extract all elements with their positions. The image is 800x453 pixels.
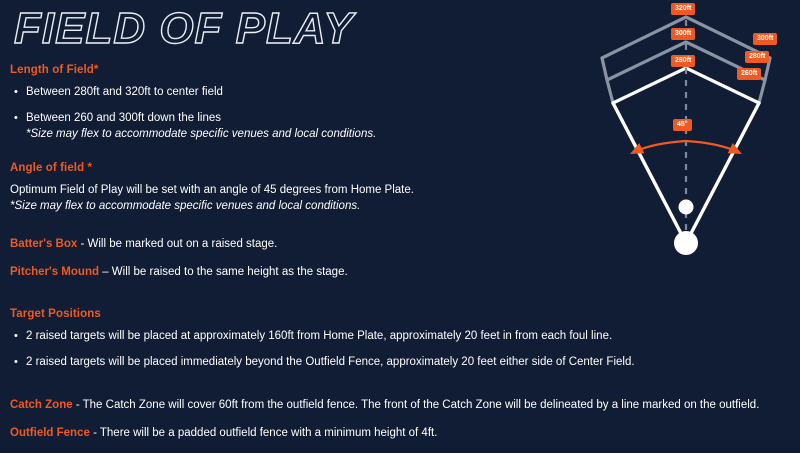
catch-zone-text: - The Catch Zone will cover 60ft from th…	[73, 399, 760, 411]
bullet-icon: •	[10, 329, 26, 344]
foul-line-right	[686, 103, 759, 243]
home-plate-marker	[674, 231, 698, 255]
field-of-play-slide: FIELD OF PLAY Length of Field* • Between…	[0, 0, 800, 441]
outfield-fence-label: Outfield Fence	[10, 427, 90, 439]
bullet-text: 2 raised targets will be placed immediat…	[26, 355, 635, 370]
catch-zone-label: Catch Zone	[10, 399, 73, 411]
heading-target-positions: Target Positions	[10, 308, 800, 320]
angle-arc-right	[686, 141, 740, 153]
batters-box-label: Batter's Box	[10, 238, 77, 250]
catch-zone-row: Catch Zone - The Catch Zone will cover 6…	[10, 397, 800, 413]
fence-connector-middle-left	[607, 80, 613, 103]
pitchers-mound-text: – Will be raised to the same height as t…	[99, 266, 348, 278]
distance-badge-foul-280[interactable]: 280ft	[745, 51, 769, 63]
length-of-field-note: *Size may flex to accommodate specific v…	[26, 126, 376, 142]
outfield-fence-row: Outfield Fence - There will be a padded …	[10, 425, 800, 441]
list-item: • 2 raised targets will be placed at app…	[10, 329, 800, 344]
angle-arc-left	[632, 141, 686, 153]
batters-box-text: - Will be marked out on a raised stage.	[77, 238, 277, 250]
distance-badge-center-280[interactable]: 280ft	[671, 55, 695, 67]
distance-badge-center-320[interactable]: 320ft	[671, 3, 695, 15]
page-title: FIELD OF PLAY	[14, 6, 354, 52]
pitchers-mound-marker	[679, 200, 694, 215]
outfield-fence-text: - There will be a padded outfield fence …	[90, 427, 438, 439]
distance-badge-center-300[interactable]: 300ft	[671, 28, 695, 40]
bullet-icon: •	[10, 111, 26, 126]
bullet-text: Between 260 and 300ft down the lines	[26, 111, 376, 126]
fence-connector-middle-right	[759, 80, 765, 103]
bullet-icon: •	[10, 355, 26, 370]
bullet-text: Between 280ft and 320ft to center field	[26, 85, 223, 100]
bullet-icon: •	[10, 85, 26, 100]
pitchers-mound-label: Pitcher's Mound	[10, 266, 99, 278]
list-item: • 2 raised targets will be placed immedi…	[10, 355, 800, 370]
angle-badge-45-degrees[interactable]: 45°	[673, 119, 692, 131]
bullet-text: 2 raised targets will be placed at appro…	[26, 329, 612, 344]
fence-connector-outer-left	[602, 58, 607, 80]
distance-badge-foul-300[interactable]: 300ft	[753, 33, 777, 45]
field-diagram: 320ft 300ft 280ft 300ft 280ft 260ft 45°	[580, 0, 800, 280]
distance-badge-foul-260[interactable]: 260ft	[737, 68, 761, 80]
